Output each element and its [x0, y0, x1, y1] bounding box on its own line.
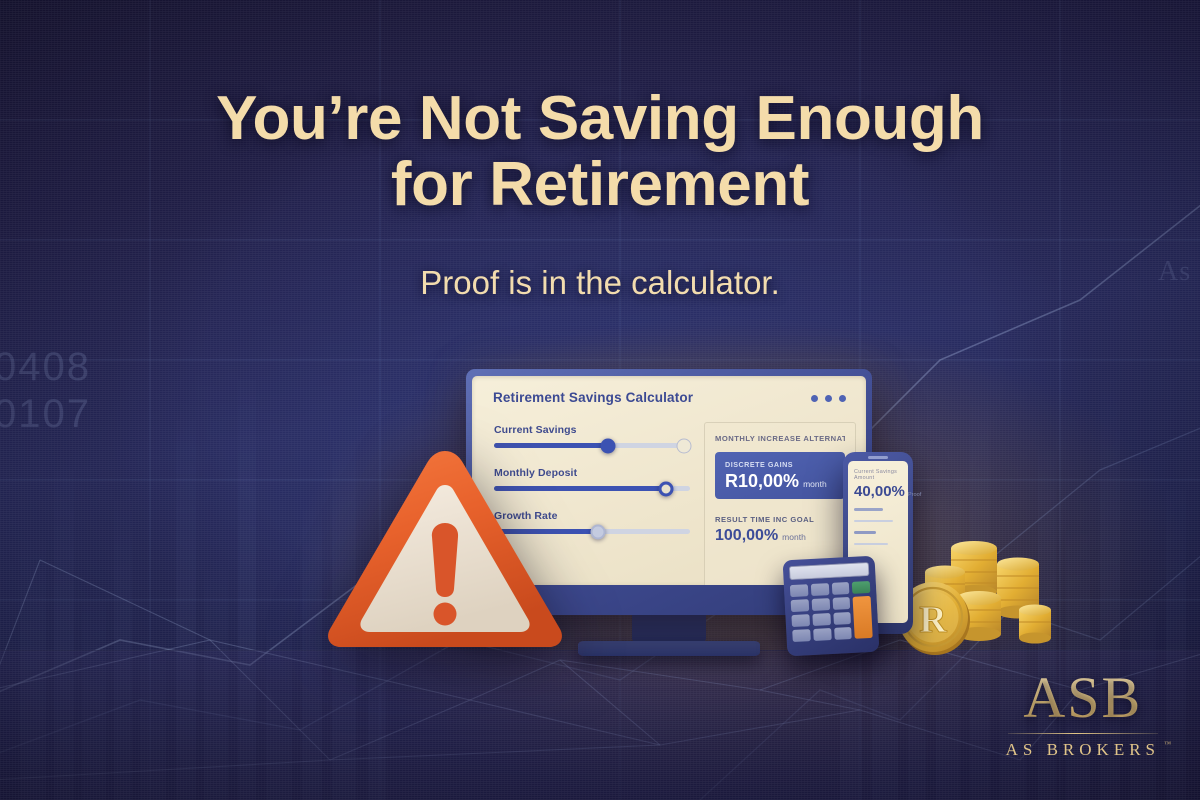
slider-end-thumb[interactable]	[677, 438, 692, 453]
page-title: You’re Not Saving Enough for Retirement	[0, 86, 1200, 217]
secondary-result-label: RESULT TIME INC GOAL	[715, 515, 845, 524]
rand-coin-symbol: R	[919, 599, 947, 641]
poster-canvas: 0408 0107 As You’re Not Saving Enough fo…	[0, 0, 1200, 800]
phone-placeholder-line	[854, 543, 888, 546]
phone-result-number: 40,00%	[854, 483, 905, 500]
gold-coin-stacks: R	[895, 520, 1055, 660]
calculator-key[interactable]	[833, 612, 851, 625]
calculator-plus-key[interactable]	[853, 596, 873, 639]
phone-result-unit: Proof	[908, 492, 921, 498]
calculator-key[interactable]	[792, 629, 810, 642]
phone-result-value: 40,00%Proof	[854, 484, 902, 499]
headline-line-1: You’re Not Saving Enough	[0, 86, 1200, 152]
phone-placeholder-line	[854, 520, 893, 523]
slider-label: Current Savings	[494, 424, 690, 436]
window-dot-1[interactable]	[811, 395, 818, 402]
slider-thumb[interactable]	[659, 481, 674, 496]
primary-result-label: DISCRETE GAINS	[725, 460, 835, 469]
window-dot-2[interactable]	[825, 395, 832, 402]
page-subtitle: Proof is in the calculator.	[0, 264, 1200, 302]
window-controls[interactable]	[811, 395, 846, 402]
logo-wordmark-text: AS BROKERS	[1006, 740, 1160, 759]
calculator-key[interactable]	[834, 627, 852, 640]
monitor-base	[578, 641, 760, 656]
calculator-key[interactable]	[832, 597, 850, 610]
phone-speaker	[868, 456, 888, 459]
calculator-key[interactable]	[811, 583, 829, 596]
window-dot-3[interactable]	[839, 395, 846, 402]
phone-result-label: Current Savings Amount	[854, 469, 902, 481]
calculator-key[interactable]	[791, 599, 809, 612]
calculator-key[interactable]	[811, 598, 829, 611]
calculator-key[interactable]	[813, 628, 831, 641]
calculator-display	[789, 562, 870, 580]
handheld-calculator[interactable]	[783, 556, 880, 657]
primary-result-unit: month	[803, 479, 827, 489]
calculator-key[interactable]	[831, 582, 849, 595]
background-number-0408: 0408	[0, 345, 91, 390]
primary-result-number: R10,00%	[725, 471, 799, 491]
primary-result-value: R10,00%month	[725, 472, 835, 490]
secondary-result: RESULT TIME INC GOAL 100,00%month	[715, 515, 845, 544]
warning-triangle-icon	[320, 437, 570, 657]
logo-wordmark: AS BROKERS™	[1006, 740, 1160, 760]
calculator-keypad[interactable]	[790, 581, 873, 642]
logo-mark: ASB	[1006, 670, 1160, 725]
calculator-key[interactable]	[791, 614, 809, 627]
calculator-equals-key[interactable]	[852, 581, 870, 594]
phone-placeholder-line	[854, 508, 883, 511]
exclamation-bar	[432, 523, 458, 597]
headline-line-2: for Retirement	[0, 152, 1200, 218]
primary-result-card: DISCRETE GAINS R10,00%month	[715, 452, 845, 499]
slider-thumb[interactable]	[590, 524, 605, 539]
exclamation-dot	[434, 603, 457, 626]
secondary-result-unit: month	[782, 532, 806, 542]
secondary-result-number: 100,00%	[715, 527, 778, 544]
calculator-key[interactable]	[812, 613, 830, 626]
background-number-0107: 0107	[0, 392, 91, 437]
calculator-window-title: Retirement Savings Calculator	[493, 390, 693, 405]
coin-stack-far-right	[1019, 605, 1051, 644]
brand-logo: ASB AS BROKERS™	[1006, 670, 1160, 760]
secondary-result-value: 100,00%month	[715, 528, 845, 544]
logo-divider	[1008, 733, 1158, 735]
calculator-key[interactable]	[790, 584, 808, 597]
phone-placeholder-line	[854, 531, 876, 534]
logo-trademark: ™	[1164, 740, 1171, 748]
results-heading: MONTHLY INCREASE ALTERNATIVE	[715, 434, 845, 443]
slider-thumb[interactable]	[600, 438, 615, 453]
